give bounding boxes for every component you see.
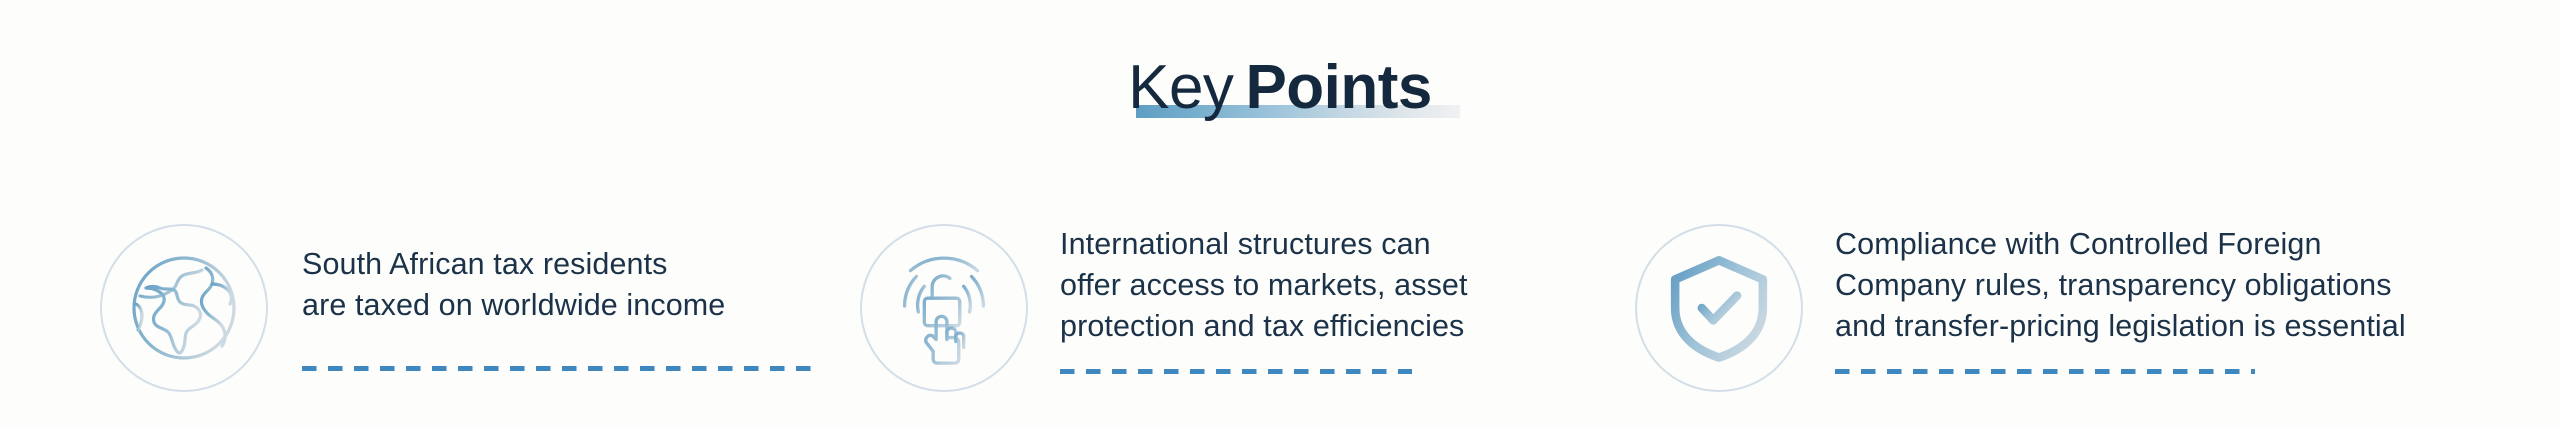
key-point-column-1: South African tax residents are taxed on… [100, 218, 820, 392]
key-point-text-2: International structures can offer acces… [1060, 224, 1580, 347]
key-point-column-2: International structures can offer acces… [860, 218, 1580, 392]
key-point-rule-3 [1835, 369, 2255, 374]
title-inner: KeyPoints [1122, 52, 1438, 124]
shield-check-icon [1658, 247, 1780, 369]
key-point-body-1: South African tax residents are taxed on… [302, 218, 820, 371]
page-title: KeyPoints [1128, 52, 1432, 124]
key-point-text-1: South African tax residents are taxed on… [302, 224, 820, 326]
key-point-rule-1 [302, 366, 814, 371]
key-points-columns: South African tax residents are taxed on… [0, 218, 2560, 418]
key-point-rule-2 [1060, 369, 1412, 374]
globe-icon [120, 244, 248, 372]
key-point-text-3: Compliance with Controlled Foreign Compa… [1835, 224, 2515, 347]
page-title-bold-word: Points [1245, 53, 1431, 122]
key-point-body-2: International structures can offer acces… [1060, 218, 1580, 374]
page-title-light-word: Key [1128, 53, 1233, 122]
page-title-block: KeyPoints [0, 52, 2560, 148]
icon-ring-3 [1635, 224, 1803, 392]
icon-ring-2 [860, 224, 1028, 392]
icon-ring-1 [100, 224, 268, 392]
hand-unlock-icon [881, 245, 1007, 371]
key-point-column-3: Compliance with Controlled Foreign Compa… [1635, 218, 2515, 392]
key-point-body-3: Compliance with Controlled Foreign Compa… [1835, 218, 2515, 374]
